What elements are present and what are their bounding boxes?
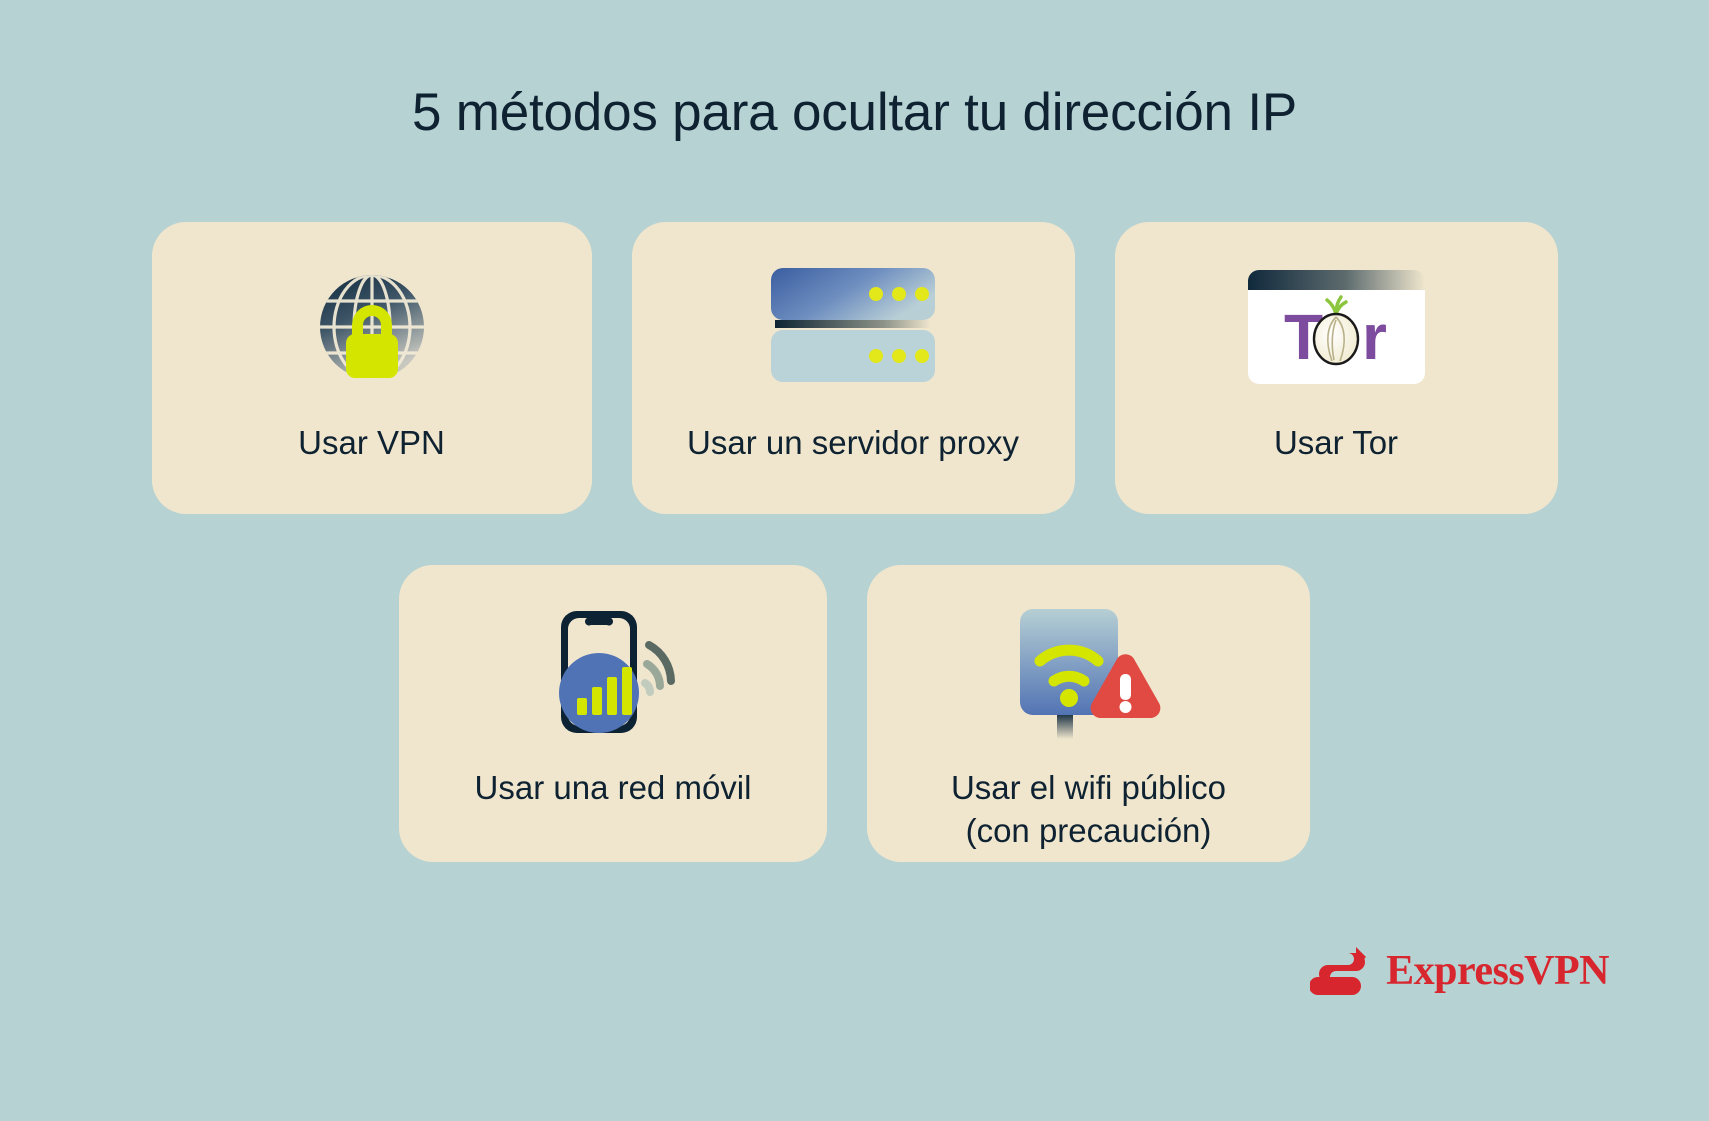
globe-lock-icon	[302, 252, 442, 402]
card-label-wifi: Usar el wifi público (con precaución)	[927, 767, 1250, 853]
card-tor[interactable]: T r Usar Tor	[1115, 222, 1558, 514]
methods-grid: Usar VPN	[0, 222, 1709, 862]
card-label-wifi-line2: (con precaución)	[966, 812, 1212, 849]
mobile-signal-icon	[533, 595, 693, 747]
server-stack-icon	[763, 252, 943, 402]
card-mobile[interactable]: Usar una red móvil	[399, 565, 827, 862]
card-proxy[interactable]: Usar un servidor proxy	[632, 222, 1075, 514]
card-vpn[interactable]: Usar VPN	[152, 222, 592, 514]
public-wifi-warning-icon	[1014, 595, 1164, 747]
card-wifi[interactable]: Usar el wifi público (con precaución)	[867, 565, 1310, 862]
card-label-proxy: Usar un servidor proxy	[663, 422, 1043, 465]
svg-text:r: r	[1362, 301, 1387, 373]
signal-waves-icon	[645, 645, 671, 692]
signal-bars-badge	[559, 653, 639, 733]
expressvpn-wordmark: ExpressVPN	[1386, 947, 1609, 995]
card-label-vpn: Usar VPN	[274, 422, 469, 465]
card-label-tor: Usar Tor	[1250, 422, 1422, 465]
card-label-mobile: Usar una red móvil	[451, 767, 776, 810]
tor-browser-icon: T r	[1244, 252, 1429, 402]
methods-row-2: Usar una red móvil	[0, 565, 1709, 862]
expressvpn-mark-icon	[1310, 943, 1372, 999]
expressvpn-logo[interactable]: ExpressVPN	[1310, 943, 1609, 999]
page-title: 5 métodos para ocultar tu dirección IP	[0, 82, 1709, 143]
methods-row-1: Usar VPN	[0, 222, 1709, 514]
card-label-wifi-line1: Usar el wifi público	[951, 769, 1226, 806]
